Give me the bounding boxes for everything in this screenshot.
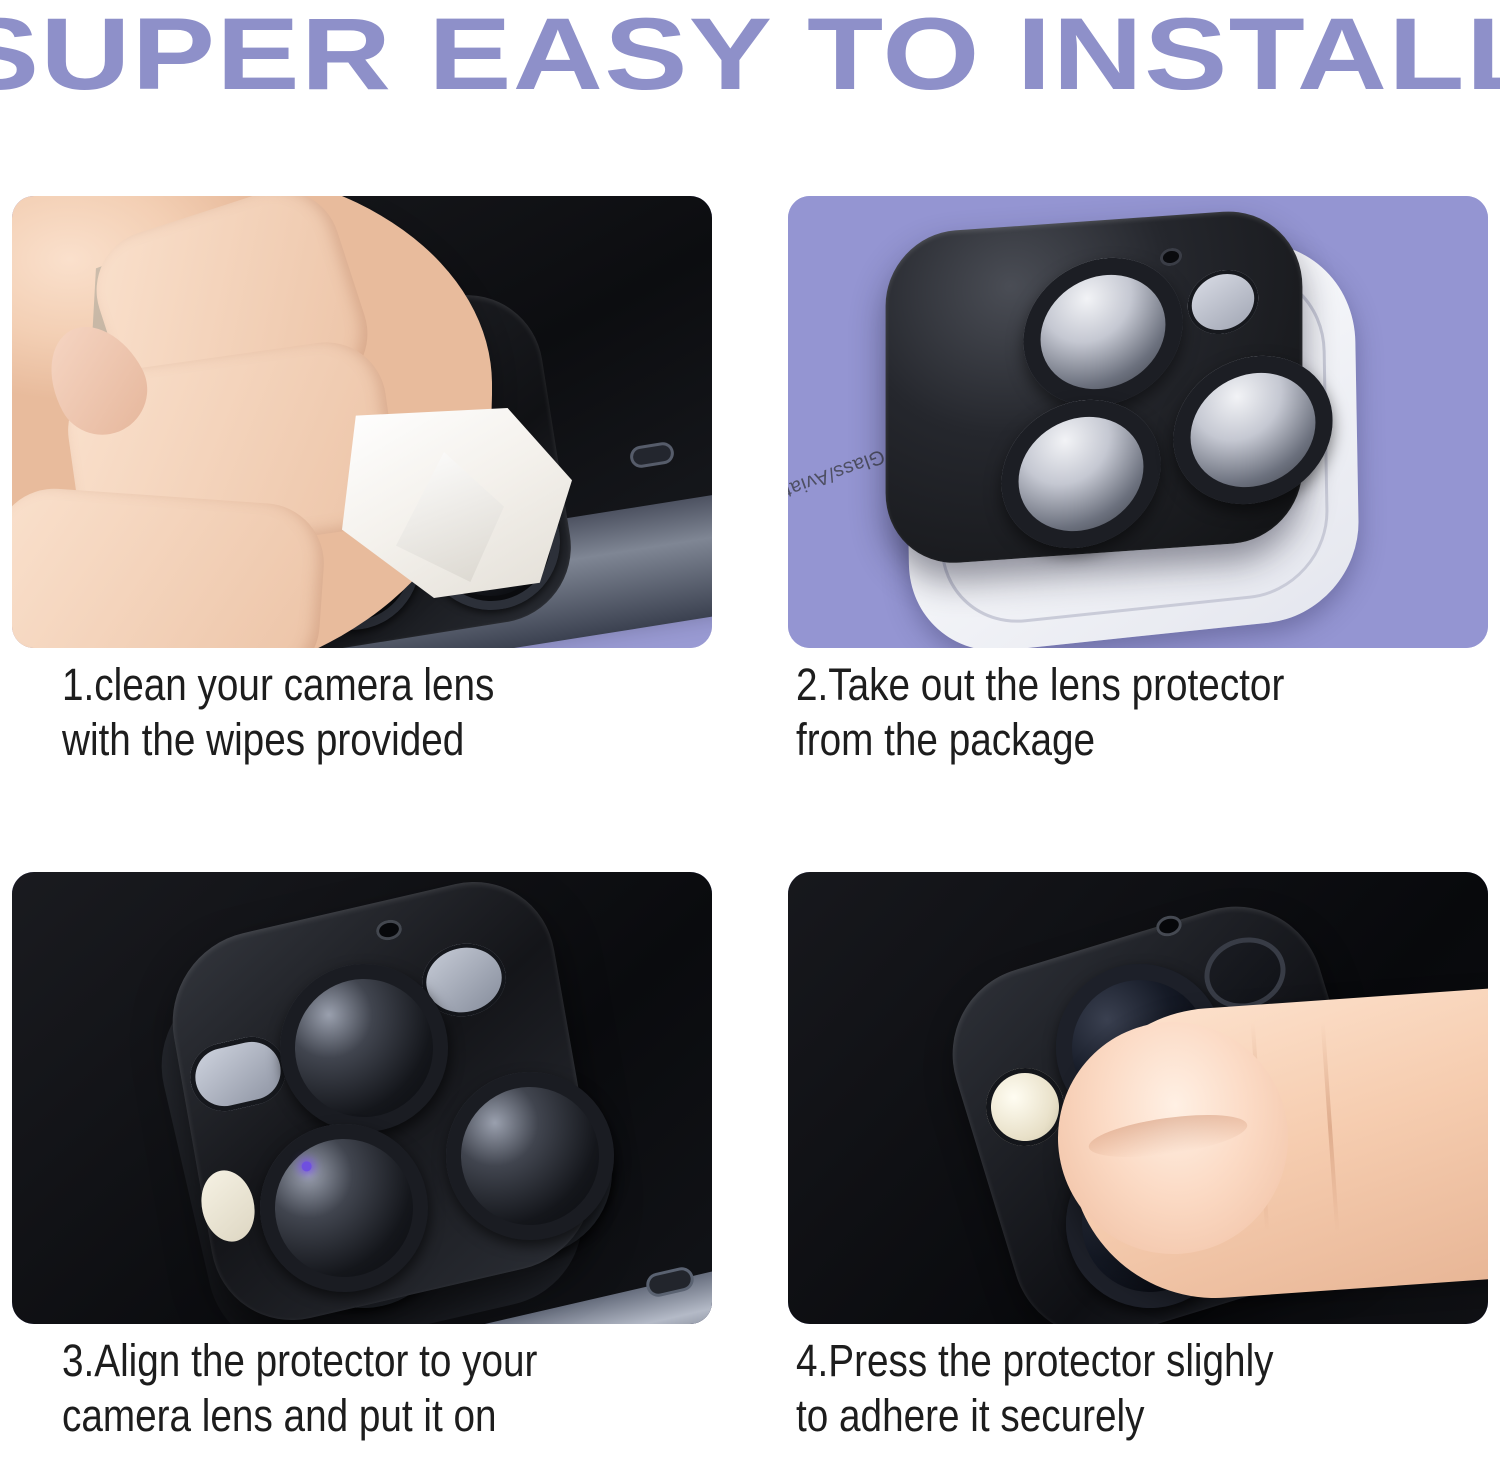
installation-steps-grid: 1.clean your camera lens with the wipes …: [0, 110, 1500, 1474]
step-3-caption: 3.Align the protector to your camera len…: [62, 1334, 664, 1444]
lens-flare-icon: [301, 1160, 313, 1172]
step-2-photo: 9H Glass/Aviation aluminum Aviation alum…: [788, 196, 1488, 648]
finger-thumb: [12, 485, 328, 648]
step-4: 4.Press the protector slighly to adhere …: [788, 872, 1488, 1324]
step-3: 3.Align the protector to your camera len…: [12, 872, 712, 1324]
step-3-photo: [12, 872, 712, 1324]
page-title: SUPER EASY TO INSTALL: [0, 4, 1500, 106]
step-1-photo: [12, 196, 712, 648]
step-2: 9H Glass/Aviation aluminum Aviation alum…: [788, 196, 1488, 648]
step-4-photo: [788, 872, 1488, 1324]
step-2-caption: 2.Take out the lens protector from the p…: [796, 658, 1398, 768]
page-title-bar: SUPER EASY TO INSTALL: [0, 0, 1500, 110]
step-4-caption: 4.Press the protector slighly to adhere …: [796, 1334, 1398, 1444]
step-1-caption: 1.clean your camera lens with the wipes …: [62, 658, 664, 768]
step-1: 1.clean your camera lens with the wipes …: [12, 196, 712, 648]
